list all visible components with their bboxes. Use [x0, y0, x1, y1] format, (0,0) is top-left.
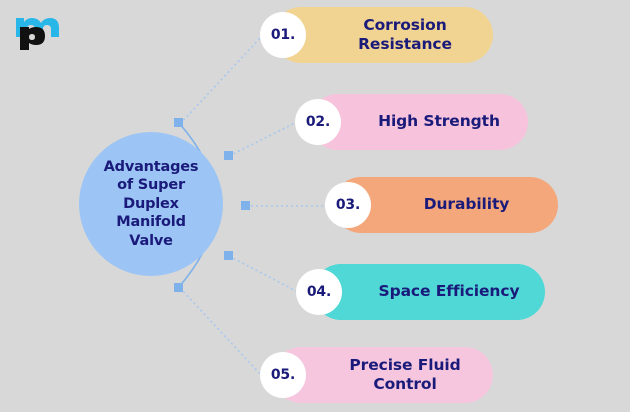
arc-node-5	[174, 283, 183, 292]
infographic-canvas: Advantages of Super Duplex Manifold Valv…	[0, 0, 630, 412]
item-number-4: 04.	[307, 284, 331, 300]
item-pill-4[interactable]: Space Efficiency	[313, 264, 545, 320]
hub-title: Advantages of Super Duplex Manifold Valv…	[104, 158, 199, 251]
item-label-5: Precise Fluid Control	[273, 356, 493, 395]
leader-line-2	[229, 122, 297, 156]
item-pill-1[interactable]: Corrosion Resistance	[273, 7, 493, 63]
item-number-3: 03.	[336, 197, 360, 213]
item-badge-4[interactable]: 04.	[296, 269, 342, 315]
leader-line-4	[229, 256, 298, 292]
arc-node-3	[241, 201, 250, 210]
leader-line-1	[180, 36, 262, 124]
leader-line-5	[180, 288, 262, 376]
item-label-2: High Strength	[310, 112, 528, 131]
item-pill-5[interactable]: Precise Fluid Control	[273, 347, 493, 403]
item-number-1: 01.	[271, 27, 295, 43]
arc-node-1	[174, 118, 183, 127]
item-pill-2[interactable]: High Strength	[310, 94, 528, 150]
arc-node-4	[224, 251, 233, 260]
item-badge-2[interactable]: 02.	[295, 99, 341, 145]
item-badge-1[interactable]: 01.	[260, 12, 306, 58]
hub-circle: Advantages of Super Duplex Manifold Valv…	[79, 132, 223, 276]
item-label-4: Space Efficiency	[313, 282, 545, 301]
item-number-5: 05.	[271, 367, 295, 383]
arc-node-2	[224, 151, 233, 160]
item-badge-5[interactable]: 05.	[260, 352, 306, 398]
item-badge-3[interactable]: 03.	[325, 182, 371, 228]
item-number-2: 02.	[306, 114, 330, 130]
item-label-1: Corrosion Resistance	[273, 16, 493, 55]
